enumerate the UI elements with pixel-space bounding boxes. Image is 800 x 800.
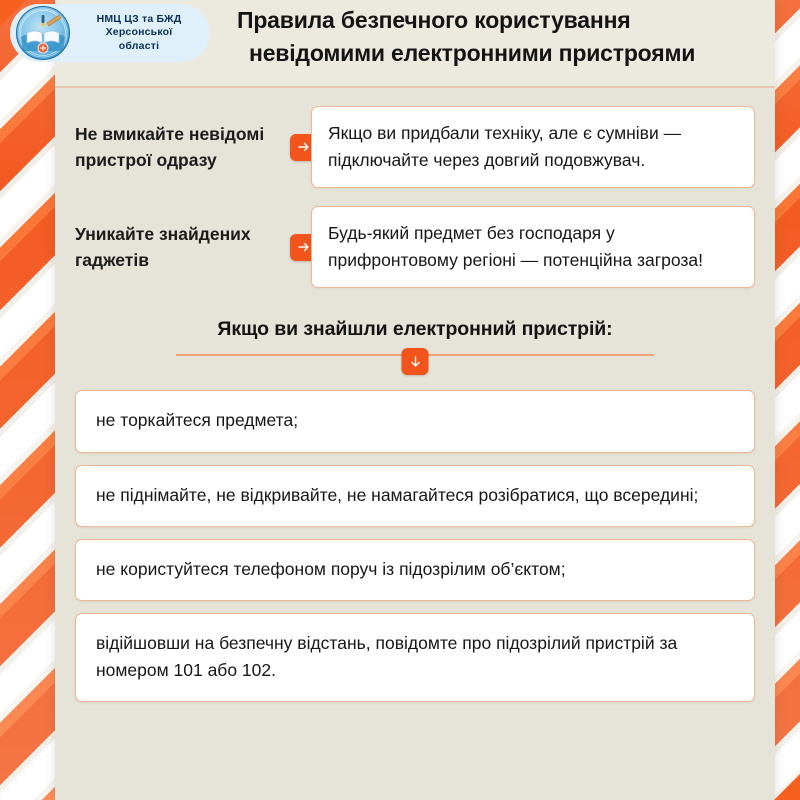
rule-row: Уникайте знайдених гаджетів Будь-який пр… [75,206,755,288]
list-item: відійшовши на безпечну відстань, повідом… [75,613,755,702]
list-item: не торкайтеся предмета; [75,390,755,452]
section-heading: Якщо ви знайшли електронний пристрій: [75,318,755,341]
rule-text-card: Будь-який предмет без господаря у прифро… [311,206,755,288]
arrow-down-icon [402,348,429,375]
title-line-1: Правила безпечного користування [225,4,770,37]
title-line-2: невідомими електронними пристроями [225,37,770,70]
poster-header: НМЦ ЦЗ та БЖД Херсонської області Правил… [55,0,775,88]
section-divider [176,354,654,382]
corner-accent-bottom-right [774,774,800,800]
rule-label: Не вмикайте невідомі пристрої одразу [75,121,290,174]
logo-line-1: НМЦ ЦЗ та БЖД [76,13,202,26]
list-item: не користуйтеся телефоном поруч із підоз… [75,539,755,601]
logo-line-2: Херсонської [76,26,202,39]
rule-text-card: Якщо ви придбали техніку, але є сумніви … [311,106,755,188]
logo-line-3: області [76,40,202,53]
poster-title: Правила безпечного користування невідоми… [225,0,770,69]
rule-label: Уникайте знайдених гаджетів [75,221,290,274]
corner-accent-top-left [0,0,26,26]
infographic-poster: НМЦ ЦЗ та БЖД Херсонської області Правил… [0,0,800,800]
poster-content: Не вмикайте невідомі пристрої одразу Якщ… [55,88,775,800]
rule-row: Не вмикайте невідомі пристрої одразу Якщ… [75,106,755,188]
instruction-list: не торкайтеся предмета; не піднімайте, н… [75,390,755,702]
list-item: не піднімайте, не відкривайте, не намага… [75,465,755,527]
organization-name: НМЦ ЦЗ та БЖД Херсонської області [70,13,210,53]
organization-logo: НМЦ ЦЗ та БЖД Херсонської області [10,4,210,62]
